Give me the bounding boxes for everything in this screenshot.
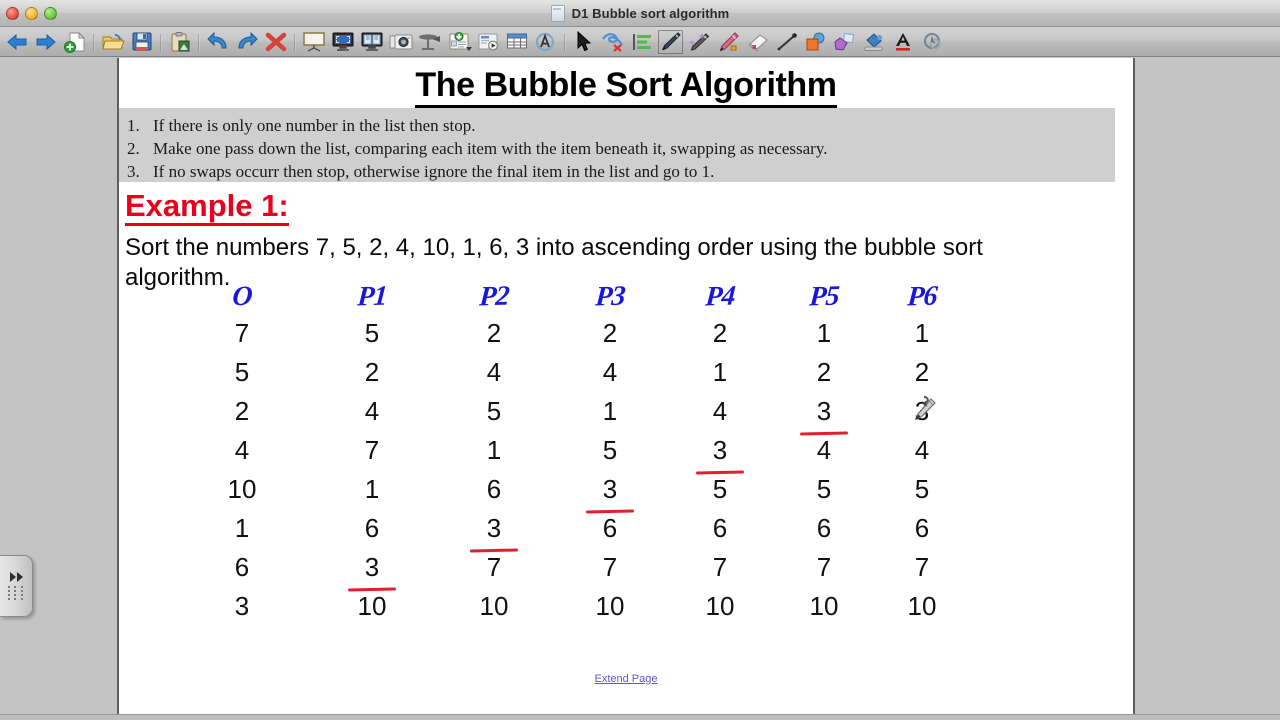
spotlight-icon[interactable]	[415, 28, 444, 56]
sort-cell: 6	[199, 548, 285, 587]
list-align-icon[interactable]	[627, 28, 656, 56]
sort-cell: 4	[451, 353, 537, 392]
sort-cell: 3	[451, 509, 537, 548]
sort-column: O752410163	[199, 280, 285, 626]
sort-cell: 2	[781, 353, 867, 392]
workspace-area: The Bubble Sort Algorithm 1. If there is…	[0, 58, 1280, 720]
shapes-icon[interactable]	[801, 28, 830, 56]
gallery-insert-icon[interactable]	[444, 28, 473, 56]
sort-column: P4214356710	[677, 280, 763, 626]
sort-cell: 5	[879, 470, 965, 509]
list-item: 3. If no swaps occurr then stop, otherwi…	[127, 160, 1115, 183]
table-icon[interactable]	[502, 28, 531, 56]
dual-page-icon[interactable]	[357, 28, 386, 56]
back-arrow-icon[interactable]	[2, 28, 31, 56]
sort-cell: 7	[329, 431, 415, 470]
sort-cell: 10	[879, 587, 965, 626]
fill-shapes-icon[interactable]	[830, 28, 859, 56]
toolbar-separator	[560, 32, 569, 52]
undo-icon[interactable]	[203, 28, 232, 56]
sort-cell: 6	[879, 509, 965, 548]
status-strip	[0, 714, 1280, 720]
new-page-icon[interactable]	[60, 28, 89, 56]
sort-cell: 5	[199, 353, 285, 392]
sort-cell: 4	[781, 431, 867, 470]
redo-icon[interactable]	[232, 28, 261, 56]
sort-cell: 7	[567, 548, 653, 587]
save-disk-icon[interactable]	[127, 28, 156, 56]
whiteboard-icon[interactable]	[299, 28, 328, 56]
sort-column-header: P1	[328, 279, 417, 316]
toolbar-separator	[290, 32, 299, 52]
rule-text: Make one pass down the list, comparing e…	[153, 137, 827, 160]
sort-cell: 2	[451, 314, 537, 353]
window-title: D1 Bubble sort algorithm	[572, 6, 730, 21]
sort-column-header: P4	[676, 279, 765, 316]
grip-dots-icon	[8, 586, 24, 600]
sort-cell: 6	[677, 509, 763, 548]
erase-ink-icon[interactable]	[598, 28, 627, 56]
sort-cell: 5	[677, 470, 763, 509]
sort-column: P2245163710	[451, 280, 537, 626]
screen-capture-camera-icon[interactable]	[386, 28, 415, 56]
sidebar-expand-handle[interactable]	[0, 555, 33, 617]
sort-cell: 2	[677, 314, 763, 353]
sort-cell: 1	[451, 431, 537, 470]
forward-arrow-icon[interactable]	[31, 28, 60, 56]
creative-pen-icon[interactable]	[714, 28, 743, 56]
double-chevron-right-icon	[10, 572, 23, 582]
sort-cell: 1	[199, 509, 285, 548]
rule-text: If there is only one number in the list …	[153, 114, 475, 137]
sort-cell: 5	[567, 431, 653, 470]
paste-clipboard-icon[interactable]	[165, 28, 194, 56]
example-heading: Example 1:	[125, 188, 289, 224]
sort-cell: 5	[451, 392, 537, 431]
rule-number: 2.	[127, 137, 143, 160]
sort-cell: 1	[781, 314, 867, 353]
sort-cell: 6	[781, 509, 867, 548]
clock-history-icon[interactable]	[917, 28, 946, 56]
eraser-icon[interactable]	[743, 28, 772, 56]
sort-column-header: P5	[780, 279, 869, 316]
sort-cell: 5	[781, 470, 867, 509]
full-screen-icon[interactable]	[328, 28, 357, 56]
flash-player-icon[interactable]	[473, 28, 502, 56]
sort-cell: 10	[567, 587, 653, 626]
rule-number: 3.	[127, 160, 143, 183]
delete-cross-icon[interactable]	[261, 28, 290, 56]
sort-cell: 7	[199, 314, 285, 353]
bubble-sort-columns: O752410163P1524716310P2245163710P3241536…	[189, 280, 1039, 660]
extend-page-link[interactable]: Extend Page	[119, 673, 1133, 685]
document-icon	[551, 5, 565, 22]
sort-cell: 4	[329, 392, 415, 431]
chevron-down-icon[interactable]	[466, 47, 472, 51]
algorithm-rules-band: 1. If there is only one number in the li…	[119, 108, 1115, 182]
list-item: 1. If there is only one number in the li…	[127, 114, 1115, 137]
sort-cell: 3	[677, 431, 763, 470]
rule-text: If no swaps occurr then stop, otherwise …	[153, 160, 714, 183]
page-title-text: The Bubble Sort Algorithm	[415, 66, 836, 108]
window-title-bar: D1 Bubble sort algorithm	[0, 0, 1280, 27]
sort-cell: 4	[879, 431, 965, 470]
sort-cell: 5	[329, 314, 415, 353]
document-page[interactable]: The Bubble Sort Algorithm 1. If there is…	[117, 58, 1135, 720]
sort-column: P3241536710	[567, 280, 653, 626]
sort-cell: 10	[329, 587, 415, 626]
sort-cell: 4	[199, 431, 285, 470]
sort-cell: 7	[781, 548, 867, 587]
page-title: The Bubble Sort Algorithm	[119, 66, 1133, 105]
sort-cell: 1	[677, 353, 763, 392]
rule-number: 1.	[127, 114, 143, 137]
sort-cell: 6	[451, 470, 537, 509]
sort-cell: 2	[567, 314, 653, 353]
main-toolbar	[0, 27, 1280, 57]
sort-cell: 6	[567, 509, 653, 548]
sort-column-header: P3	[566, 279, 655, 316]
sort-column: P5123456710	[781, 280, 867, 626]
sort-cell: 3	[199, 587, 285, 626]
sort-cell: 10	[781, 587, 867, 626]
open-folder-icon[interactable]	[98, 28, 127, 56]
sort-cell: 6	[329, 509, 415, 548]
sort-cell: 2	[199, 392, 285, 431]
toolbar-separator	[156, 32, 165, 52]
sort-cell: 3	[781, 392, 867, 431]
sort-cell: 7	[879, 548, 965, 587]
sort-cell: 10	[199, 470, 285, 509]
toolbar-separator	[89, 32, 98, 52]
text-tool-icon[interactable]	[888, 28, 917, 56]
application-window: D1 Bubble sort algorithm	[0, 0, 1280, 720]
sort-column-header: O	[198, 279, 287, 316]
sort-column: P6123456710	[879, 280, 965, 626]
list-item: 2. Make one pass down the list, comparin…	[127, 137, 1115, 160]
algorithm-rules-list: 1. If there is only one number in the li…	[119, 108, 1115, 183]
sort-cell: 3	[329, 548, 415, 587]
sort-cell: 4	[567, 353, 653, 392]
sort-cell: 1	[879, 314, 965, 353]
toolbar-separator	[194, 32, 203, 52]
sort-cell: 2	[879, 353, 965, 392]
shape-recognition-icon[interactable]	[531, 28, 560, 56]
sort-cell: 4	[677, 392, 763, 431]
sort-cell: 1	[567, 392, 653, 431]
pen-icon[interactable]	[656, 28, 685, 56]
sort-cell: 3	[567, 470, 653, 509]
sort-cell: 10	[677, 587, 763, 626]
sort-cell: 7	[677, 548, 763, 587]
sort-cell: 7	[451, 548, 537, 587]
fill-color-icon[interactable]	[859, 28, 888, 56]
sort-cell: 1	[329, 470, 415, 509]
sort-column: P1524716310	[329, 280, 415, 626]
magic-pen-icon[interactable]	[685, 28, 714, 56]
sort-column-header: P2	[450, 279, 539, 316]
example-heading-text: Example 1:	[125, 188, 289, 226]
window-title-group: D1 Bubble sort algorithm	[0, 0, 1280, 27]
sort-cell: 3	[879, 392, 965, 431]
select-pointer-icon[interactable]	[569, 28, 598, 56]
sort-column-header: P6	[878, 279, 967, 316]
line-icon[interactable]	[772, 28, 801, 56]
sort-cell: 2	[329, 353, 415, 392]
sort-cell: 10	[451, 587, 537, 626]
